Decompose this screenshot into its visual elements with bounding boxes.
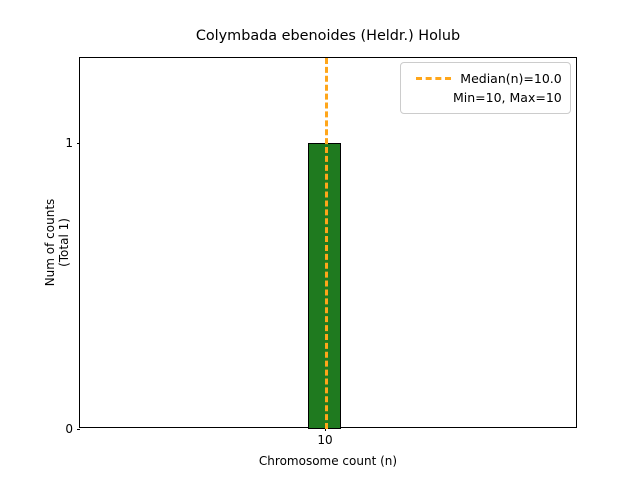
legend-label-median: Median(n)=10.0 [460, 71, 561, 86]
chart-legend: Median(n)=10.0 Min=10, Max=10 [400, 62, 571, 114]
legend-entry-minmax: Min=10, Max=10 [409, 88, 562, 107]
y-axis-label: Num of counts (Total 1) [44, 57, 66, 428]
legend-entry-median: Median(n)=10.0 [409, 69, 562, 88]
median-line [325, 58, 328, 429]
y-axis-label-line1: Num of counts [44, 57, 58, 428]
legend-swatch-median-line [416, 77, 451, 80]
chart-title: Colymbada ebenoides (Heldr.) Holub [79, 28, 577, 45]
legend-label-minmax: Min=10, Max=10 [453, 90, 562, 105]
y-axis-label-line2: (Total 1) [58, 57, 72, 428]
chart-figure: Colymbada ebenoides (Heldr.) Holub 0 1 1… [0, 0, 640, 480]
ytick-mark-0 [77, 429, 81, 430]
x-axis-label: Chromosome count (n) [79, 454, 577, 468]
xtick-label-10: 10 [317, 433, 332, 447]
